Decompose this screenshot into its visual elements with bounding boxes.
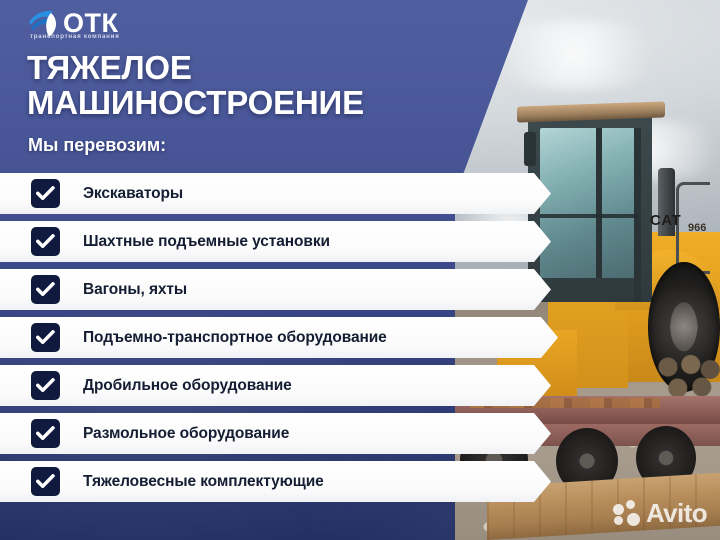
checklist-item[interactable]: Экскаваторы (0, 173, 600, 214)
headline-line-1: ТЯЖЕЛОЕ (27, 50, 497, 85)
cargo-logs (655, 352, 720, 402)
check-icon[interactable] (31, 179, 60, 208)
checklist-item[interactable]: Шахтные подъемные установки (0, 221, 600, 262)
subhead: Мы перевозим: (28, 135, 166, 156)
checklist: ЭкскаваторыШахтные подъемные установкиВа… (0, 173, 600, 509)
checklist-item[interactable]: Дробильное оборудование (0, 365, 600, 406)
check-icon[interactable] (31, 323, 60, 352)
model-badge: 966 (688, 222, 706, 234)
headline-line-2: МАШИНОСТРОЕНИЕ (27, 85, 497, 120)
checklist-item-label: Дробильное оборудование (83, 377, 292, 395)
checklist-item-label: Шахтные подъемные установки (83, 233, 330, 251)
check-icon[interactable] (31, 419, 60, 448)
cat-badge: CAT (650, 212, 681, 229)
check-icon[interactable] (31, 227, 60, 256)
checklist-item[interactable]: Подъемно-транспортное оборудование (0, 317, 600, 358)
checklist-item[interactable]: Размольное оборудование (0, 413, 600, 454)
checklist-item-label: Тяжеловесные комплектующие (83, 473, 324, 491)
checklist-item-label: Вагоны, яхты (83, 281, 187, 299)
avito-dots-icon (613, 500, 642, 526)
check-icon[interactable] (31, 371, 60, 400)
check-icon[interactable] (31, 275, 60, 304)
avito-wordmark: Avito (646, 500, 707, 526)
checklist-item[interactable]: Вагоны, яхты (0, 269, 600, 310)
avito-watermark: Avito (613, 500, 707, 526)
checklist-item-label: Экскаваторы (83, 185, 183, 203)
side-mirror (524, 132, 536, 166)
checklist-item-label: Подъемно-транспортное оборудование (83, 329, 387, 347)
page-title: ТЯЖЕЛОЕ МАШИНОСТРОЕНИЕ (27, 50, 497, 121)
checklist-item[interactable]: Тяжеловесные комплектующие (0, 461, 600, 502)
logo-tagline: транспортная компания (30, 33, 120, 40)
check-icon[interactable] (31, 467, 60, 496)
checklist-item-label: Размольное оборудование (83, 425, 289, 443)
promo-banner: CAT 966 ОТК транспортная компания ТЯЖЕЛО… (0, 0, 720, 540)
